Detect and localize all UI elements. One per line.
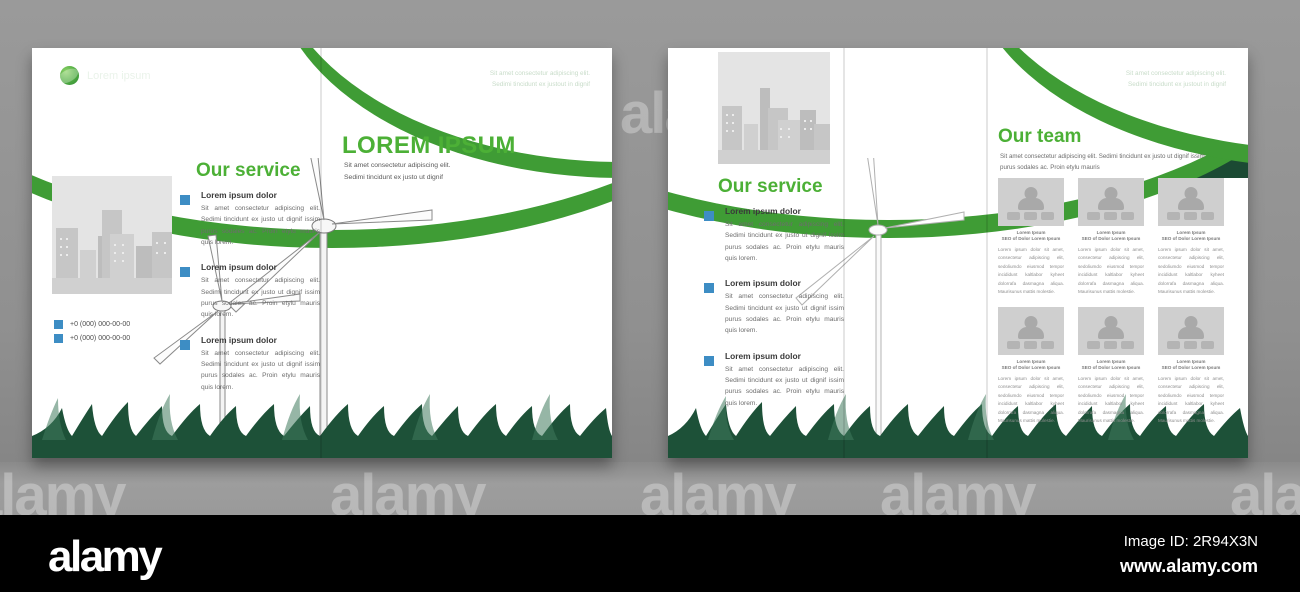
footer-meta: Image ID: 2R94X3N www.alamy.com [1120,533,1258,577]
team-member-desc: Lorem ipsum dolor sit amet, consectetur … [1078,246,1144,297]
phone-row[interactable]: +0 (000) 000-00-00 [54,334,130,343]
team-member-desc: Lorem ipsum dolor sit amet, consectetur … [998,375,1064,426]
team-member-name: Lorem Ipsum [1078,359,1144,364]
team-member-name: Lorem Ipsum [998,230,1064,235]
service-body: Sit amet consectetur adipiscing elit. Se… [725,364,844,409]
cityscape-photo [52,176,172,294]
backdrop-floor [0,462,1300,515]
header-tagline: Sit amet consectetur adipiscing elit. Se… [1126,68,1226,90]
service-body: Sit amet consectetur adipiscing elit. Se… [201,348,320,393]
team-card[interactable]: Lorem Ipsum SEO of Dolor Lorem Ipsum Lor… [998,307,1064,426]
service-heading: Lorem ipsum dolor [725,206,844,216]
service-body: Sit amet consectetur adipiscing elit. Se… [725,219,844,264]
main-headline: LOREM IPSUM [342,132,516,160]
service-item[interactable]: Lorem ipsum dolor Sit amet consectetur a… [180,190,320,248]
bullet-square-icon [704,211,714,221]
contact-phone-list: +0 (000) 000-00-00 +0 (000) 000-00-00 [54,320,130,348]
alamy-logo: alamy [48,532,160,582]
team-card[interactable]: Lorem Ipsum SEO of Dolor Lorem Ipsum Lor… [1158,307,1224,426]
service-item[interactable]: Lorem ipsum dolor Sit amet consectetur a… [180,335,320,393]
service-body: Sit amet consectetur adipiscing elit. Se… [725,291,844,336]
brand-logo[interactable]: Lorem ipsum [60,66,151,85]
service-body: Sit amet consectetur adipiscing elit. Se… [201,203,320,248]
service-body: Sit amet consectetur adipiscing elit. Se… [201,275,320,320]
bullet-square-icon [704,283,714,293]
service-heading: Lorem ipsum dolor [725,278,844,288]
team-member-desc: Lorem ipsum dolor sit amet, consectetur … [1078,375,1144,426]
logo-label: Lorem ipsum [87,70,151,82]
team-member-role: SEO of Dolor Lorem Ipsum [1158,236,1224,241]
team-member-role: SEO of Dolor Lorem Ipsum [1078,365,1144,370]
service-heading: Lorem ipsum dolor [725,351,844,361]
team-member-name: Lorem Ipsum [1078,230,1144,235]
team-member-name: Lorem Ipsum [1158,230,1224,235]
main-subheadline: Sit amet consectetur adipiscing elit. Se… [344,160,451,184]
team-subtitle: Sit amet consectetur adipiscing elit. Se… [1000,152,1205,173]
team-member-role: SEO of Dolor Lorem Ipsum [1158,365,1224,370]
brochure-right[interactable]: alamy Sit amet consectetur adipiscing el… [668,48,1248,458]
bullet-square-icon [180,340,190,350]
phone-icon [54,334,63,343]
team-card[interactable]: Lorem Ipsum SEO of Dolor Lorem Ipsum Lor… [1078,307,1144,426]
section-title-our-service: Our service [718,176,823,198]
panel-fold [320,48,322,458]
section-title-our-service: Our service [196,160,301,182]
service-item[interactable]: Lorem ipsum dolor Sit amet consectetur a… [704,206,844,264]
phone-icon [54,320,63,329]
brochure-left[interactable]: alamy Lorem ipsum Sit amet consectetur a… [32,48,612,458]
team-member-desc: Lorem ipsum dolor sit amet, consectetur … [1158,246,1224,297]
team-member-role: SEO of Dolor Lorem Ipsum [998,236,1064,241]
team-avatar-icon [1158,307,1224,355]
service-list: Lorem ipsum dolor Sit amet consectetur a… [704,206,844,423]
team-avatar-icon [998,178,1064,226]
team-avatar-icon [1078,307,1144,355]
brochure-left-content: +0 (000) 000-00-00 +0 (000) 000-00-00 Ou… [32,48,612,458]
alamy-footer-bar: alamy Image ID: 2R94X3N www.alamy.com [0,515,1300,592]
team-member-name: Lorem Ipsum [998,359,1064,364]
panel-fold [986,48,988,458]
service-heading: Lorem ipsum dolor [201,190,320,200]
team-member-desc: Lorem ipsum dolor sit amet, consectetur … [998,246,1064,297]
bullet-square-icon [704,356,714,366]
team-member-role: SEO of Dolor Lorem Ipsum [998,365,1064,370]
alamy-url[interactable]: www.alamy.com [1120,556,1258,577]
bullet-square-icon [180,195,190,205]
section-title-our-team: Our team [998,126,1081,148]
service-heading: Lorem ipsum dolor [201,335,320,345]
team-card[interactable]: Lorem Ipsum SEO of Dolor Lorem Ipsum Lor… [998,178,1064,297]
cityscape-photo [718,52,830,164]
team-avatar-icon [1158,178,1224,226]
panel-fold [843,48,845,458]
service-item[interactable]: Lorem ipsum dolor Sit amet consectetur a… [180,262,320,320]
team-avatar-icon [998,307,1064,355]
phone-number: +0 (000) 000-00-00 [70,335,130,342]
service-heading: Lorem ipsum dolor [201,262,320,272]
team-member-name: Lorem Ipsum [1158,359,1224,364]
header-tagline: Sit amet consectetur adipiscing elit. Se… [490,68,590,90]
service-item[interactable]: Lorem ipsum dolor Sit amet consectetur a… [704,278,844,336]
team-avatar-icon [1078,178,1144,226]
leaf-icon [60,66,79,85]
team-card[interactable]: Lorem Ipsum SEO of Dolor Lorem Ipsum Lor… [1078,178,1144,297]
brochure-right-content: Our service Lorem ipsum dolor Sit amet c… [668,48,1248,458]
bullet-square-icon [180,267,190,277]
phone-number: +0 (000) 000-00-00 [70,321,130,328]
team-card[interactable]: Lorem Ipsum SEO of Dolor Lorem Ipsum Lor… [1158,178,1224,297]
team-member-role: SEO of Dolor Lorem Ipsum [1078,236,1144,241]
phone-row[interactable]: +0 (000) 000-00-00 [54,320,130,329]
team-grid: Lorem Ipsum SEO of Dolor Lorem Ipsum Lor… [998,178,1224,426]
team-member-desc: Lorem ipsum dolor sit amet, consectetur … [1158,375,1224,426]
image-id-label: Image ID: 2R94X3N [1120,533,1258,550]
service-item[interactable]: Lorem ipsum dolor Sit amet consectetur a… [704,351,844,409]
service-list: Lorem ipsum dolor Sit amet consectetur a… [180,190,320,407]
